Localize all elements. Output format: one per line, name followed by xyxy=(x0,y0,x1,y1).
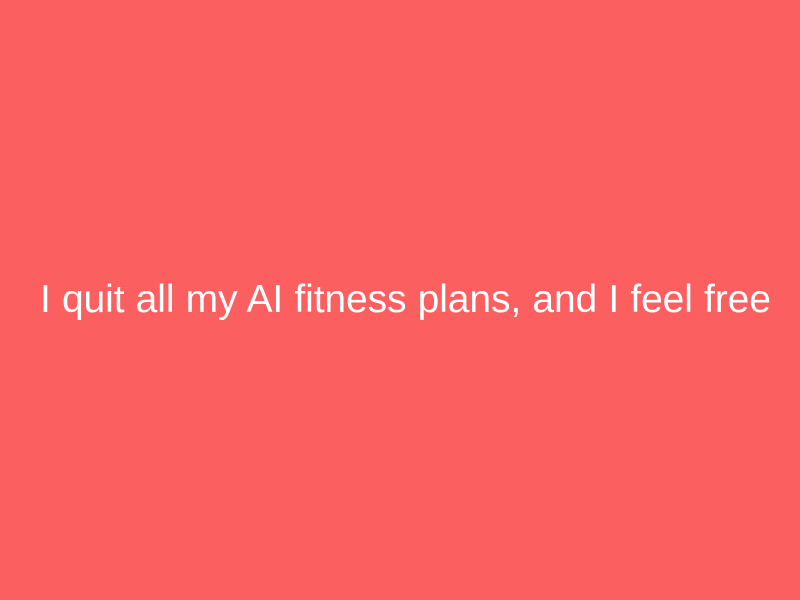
headline-text: I quit all my AI fitness plans, and I fe… xyxy=(40,277,760,323)
headline-block: I quit all my AI fitness plans, and I fe… xyxy=(0,277,800,323)
quote-card: I quit all my AI fitness plans, and I fe… xyxy=(0,0,800,600)
